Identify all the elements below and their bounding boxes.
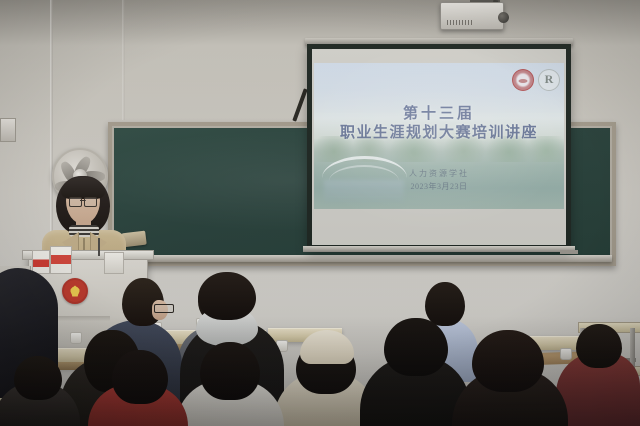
presenter-glasses: [69, 197, 97, 205]
microphone-stem: [98, 238, 100, 256]
wall-junction-box: [0, 118, 16, 142]
glasses-lens-left: [69, 197, 82, 207]
student-head: [425, 282, 465, 326]
cup: [560, 348, 572, 360]
tissue-box: [104, 252, 124, 274]
product-box: [50, 246, 72, 274]
screen-bottom-bar: [303, 246, 575, 252]
school-emblem-icon: [62, 278, 88, 304]
student-head: [472, 330, 544, 392]
cup: [70, 332, 82, 344]
lecture-hall-photo: R 第十三届 职业生涯规划大赛培训讲座 人力资源学社 2023年3月23日: [0, 0, 640, 426]
projector-vent: [447, 20, 473, 25]
projector-lens: [498, 12, 509, 23]
slide-organizer: 人力资源学社: [314, 168, 564, 179]
student-head: [112, 350, 168, 404]
student-head: [198, 272, 256, 320]
student-head: [200, 342, 260, 400]
glasses-lens-right: [84, 197, 97, 207]
society-logo: R: [538, 69, 560, 91]
university-seal-logo: [512, 69, 534, 91]
student-head: [576, 324, 622, 368]
screen-bar-tail: [560, 250, 578, 254]
podium-panel-seam: [58, 316, 110, 321]
product-box: [32, 250, 50, 274]
slide-title-block: 第十三届 职业生涯规划大赛培训讲座: [314, 107, 564, 142]
chalkboard-ledge: [104, 255, 612, 262]
slide-subtitle-block: 人力资源学社 2023年3月23日: [314, 168, 564, 192]
slide-date: 2023年3月23日: [314, 181, 564, 192]
student-glasses: [154, 304, 174, 313]
slide-title-line1: 第十三届: [314, 107, 564, 123]
projection-screen: R 第十三届 职业生涯规划大赛培训讲座 人力资源学社 2023年3月23日: [307, 44, 571, 250]
screen-surface: R 第十三届 职业生涯规划大赛培训讲座 人力资源学社 2023年3月23日: [312, 49, 566, 245]
ceiling-projector-icon: [440, 2, 504, 30]
student-head: [14, 356, 62, 400]
slide-title-line2: 职业生涯规划大赛培训讲座: [314, 124, 564, 142]
wall-seam: [122, 0, 125, 120]
student-head: [384, 318, 448, 376]
projected-slide: R 第十三届 职业生涯规划大赛培训讲座 人力资源学社 2023年3月23日: [314, 63, 564, 209]
